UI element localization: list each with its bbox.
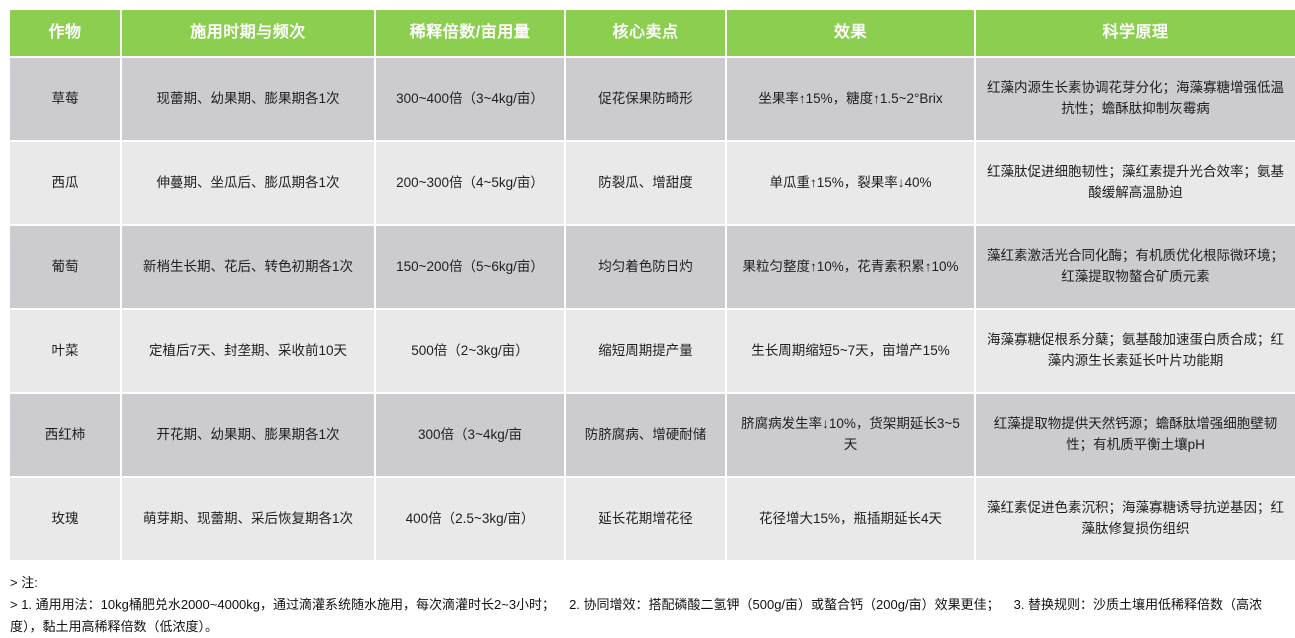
cell-selling-point: 防脐腐病、增硬耐储 [566,394,725,476]
cell-effect: 花径增大15%，瓶插期延长4天 [727,478,974,560]
table-row: 草莓 现蕾期、幼果期、膨果期各1次 300~400倍（3~4kg/亩） 促花保果… [10,58,1295,140]
cell-effect: 脐腐病发生率↓10%，货架期延长3~5天 [727,394,974,476]
table-header: 作物 施用时期与频次 稀释倍数/亩用量 核心卖点 效果 科学原理 [10,10,1295,56]
cell-dilution: 500倍（2~3kg/亩） [376,310,564,392]
footnote-item-2: 2. 协同增效：搭配磷酸二氢钾（500g/亩）或螯合钙（200g/亩）效果更佳； [569,597,1000,612]
cell-selling-point: 缩短周期提产量 [566,310,725,392]
cell-effect: 果粒匀整度↑10%，花青素积累↑10% [727,226,974,308]
column-header-science: 科学原理 [976,10,1295,56]
cell-selling-point: 防裂瓜、增甜度 [566,142,725,224]
cell-dilution: 300~400倍（3~4kg/亩） [376,58,564,140]
column-header-selling-point: 核心卖点 [566,10,725,56]
crop-application-table: 作物 施用时期与频次 稀释倍数/亩用量 核心卖点 效果 科学原理 草莓 现蕾期、… [8,8,1295,562]
cell-timing: 萌芽期、现蕾期、采后恢复期各1次 [122,478,374,560]
cell-selling-point: 促花保果防畸形 [566,58,725,140]
table-row: 叶菜 定植后7天、封垄期、采收前10天 500倍（2~3kg/亩） 缩短周期提产… [10,310,1295,392]
cell-science: 海藻寡糖促根系分蘖；氨基酸加速蛋白质合成；红藻内源生长素延长叶片功能期 [976,310,1295,392]
cell-crop: 西红柿 [10,394,120,476]
cell-crop: 草莓 [10,58,120,140]
cell-effect: 单瓜重↑15%，裂果率↓40% [727,142,974,224]
cell-science: 藻红素激活光合同化酶；有机质优化根际微环境；红藻提取物螯合矿质元素 [976,226,1295,308]
table-row: 葡萄 新梢生长期、花后、转色初期各1次 150~200倍（5~6kg/亩） 均匀… [10,226,1295,308]
cell-science: 红藻肽促进细胞韧性；藻红素提升光合效率；氨基酸缓解高温胁迫 [976,142,1295,224]
column-header-crop: 作物 [10,10,120,56]
cell-selling-point: 延长花期增花径 [566,478,725,560]
table-header-row: 作物 施用时期与频次 稀释倍数/亩用量 核心卖点 效果 科学原理 [10,10,1295,56]
table-row: 玫瑰 萌芽期、现蕾期、采后恢复期各1次 400倍（2.5~3kg/亩） 延长花期… [10,478,1295,560]
cell-dilution: 400倍（2.5~3kg/亩） [376,478,564,560]
cell-timing: 现蕾期、幼果期、膨果期各1次 [122,58,374,140]
cell-timing: 开花期、幼果期、膨果期各1次 [122,394,374,476]
table-row: 西瓜 伸蔓期、坐瓜后、膨瓜期各1次 200~300倍（4~5kg/亩） 防裂瓜、… [10,142,1295,224]
cell-crop: 玫瑰 [10,478,120,560]
cell-crop: 叶菜 [10,310,120,392]
column-header-dilution: 稀释倍数/亩用量 [376,10,564,56]
column-header-effect: 效果 [727,10,974,56]
page-root: 作物 施用时期与频次 稀释倍数/亩用量 核心卖点 效果 科学原理 草莓 现蕾期、… [0,0,1295,634]
cell-timing: 伸蔓期、坐瓜后、膨瓜期各1次 [122,142,374,224]
cell-science: 红藻提取物提供天然钙源；蟾酥肽增强细胞壁韧性；有机质平衡土壤pH [976,394,1295,476]
footnote-item-1: > 1. 通用用法：10kg桶肥兑水2000~4000kg，通过滴灌系统随水施用… [10,597,555,612]
cell-timing: 新梢生长期、花后、转色初期各1次 [122,226,374,308]
cell-dilution: 200~300倍（4~5kg/亩） [376,142,564,224]
footnote-body: > 1. 通用用法：10kg桶肥兑水2000~4000kg，通过滴灌系统随水施用… [10,594,1287,638]
cell-effect: 生长周期缩短5~7天，亩增产15% [727,310,974,392]
footnote-heading: > 注: [10,572,1287,594]
cell-crop: 葡萄 [10,226,120,308]
cell-dilution: 300倍（3~4kg/亩 [376,394,564,476]
column-header-timing: 施用时期与频次 [122,10,374,56]
cell-crop: 西瓜 [10,142,120,224]
cell-science: 红藻内源生长素协调花芽分化；海藻寡糖增强低温抗性；蟾酥肽抑制灰霉病 [976,58,1295,140]
table-row: 西红柿 开花期、幼果期、膨果期各1次 300倍（3~4kg/亩 防脐腐病、增硬耐… [10,394,1295,476]
cell-selling-point: 均匀着色防日灼 [566,226,725,308]
table-body: 草莓 现蕾期、幼果期、膨果期各1次 300~400倍（3~4kg/亩） 促花保果… [10,58,1295,560]
cell-science: 藻红素促进色素沉积；海藻寡糖诱导抗逆基因；红藻肽修复损伤组织 [976,478,1295,560]
cell-timing: 定植后7天、封垄期、采收前10天 [122,310,374,392]
cell-dilution: 150~200倍（5~6kg/亩） [376,226,564,308]
footnote-block: > 注: > 1. 通用用法：10kg桶肥兑水2000~4000kg，通过滴灌系… [10,572,1287,638]
cell-effect: 坐果率↑15%，糖度↑1.5~2°Brix [727,58,974,140]
